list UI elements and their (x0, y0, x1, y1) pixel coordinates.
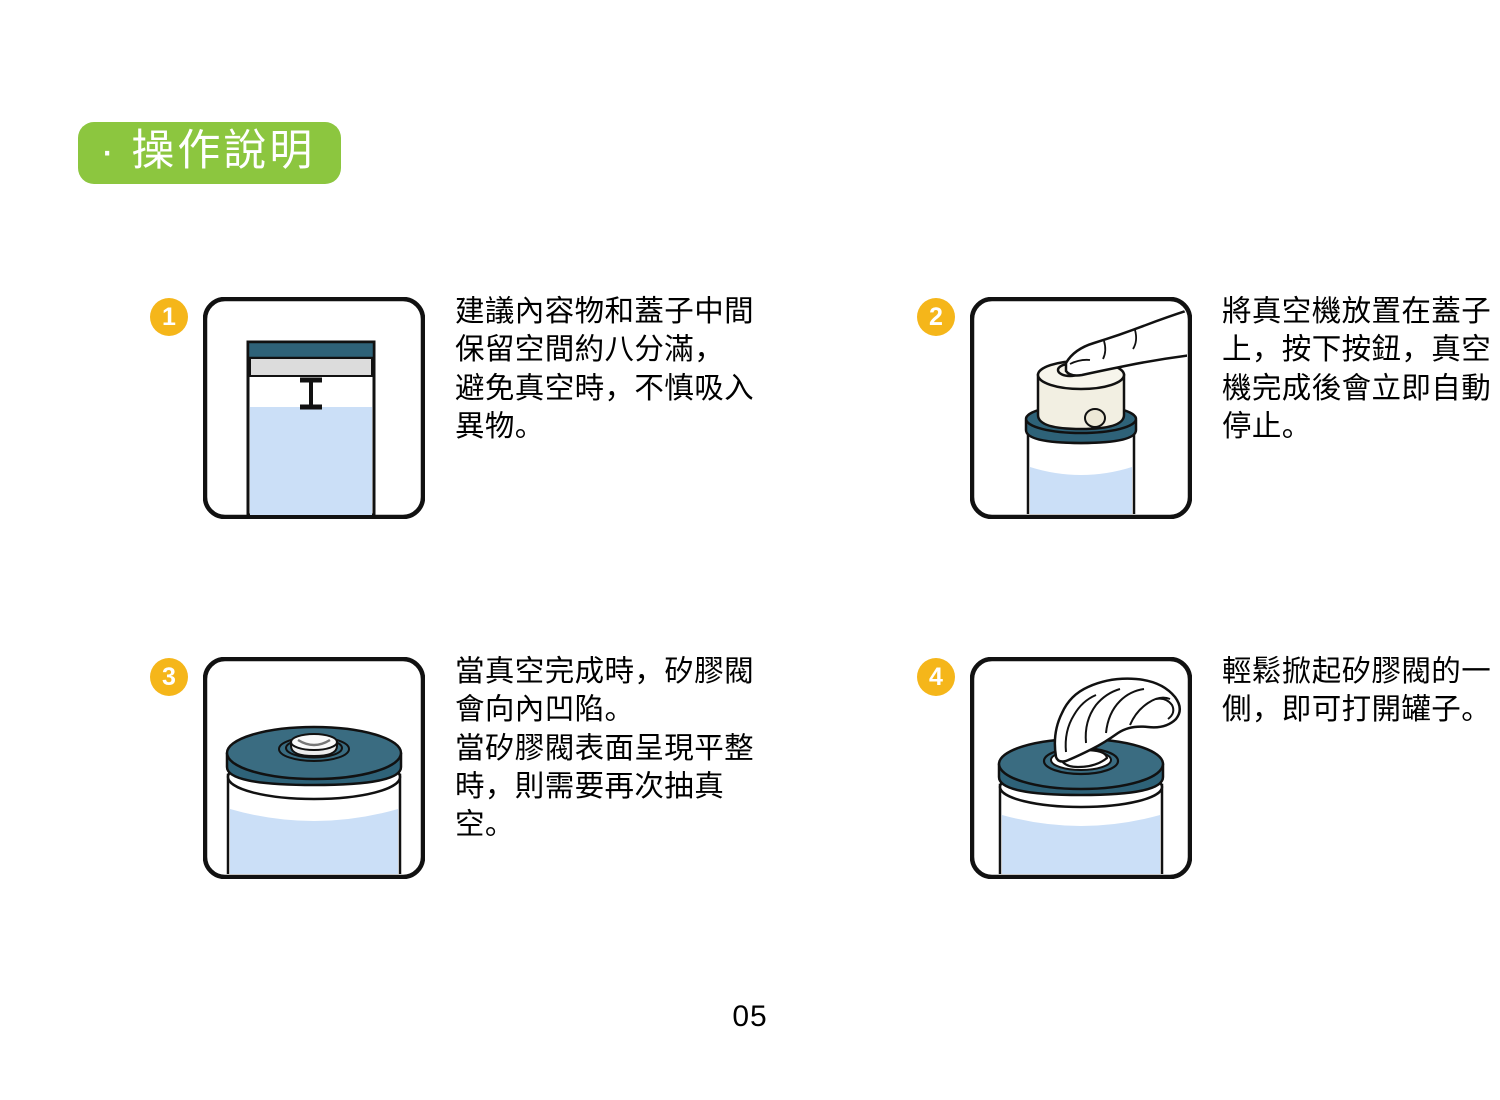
step-caption-line: 空。 (455, 805, 755, 843)
step-2: 2 (917, 270, 1500, 630)
step-caption-line: 異物。 (455, 407, 755, 445)
step-1: 1 (150, 270, 755, 630)
step-caption-line: 避免真空時，不慎吸入 (455, 369, 755, 407)
step-caption-4: 輕鬆掀起矽膠閥的一 側，即可打開罐子。 (1222, 652, 1500, 729)
step-caption-line: 輕鬆掀起矽膠閥的一 (1222, 652, 1500, 690)
step-illustration-2 (970, 297, 1192, 519)
section-title-bullet: · (100, 130, 117, 173)
step-caption-1: 建議內容物和蓋子中間 保留空間約八分滿， 避免真空時，不慎吸入 異物。 (455, 292, 755, 445)
step-illustration-1 (203, 297, 425, 519)
step-caption-line: 當真空完成時，矽膠閥 (455, 652, 755, 690)
step-number-badge-3: 3 (150, 658, 188, 696)
step-caption-line: 建議內容物和蓋子中間 (455, 292, 755, 330)
step-caption-line: 機完成後會立即自動 (1222, 369, 1500, 407)
step-number-badge-4: 4 (917, 658, 955, 696)
step-caption-line: 側，即可打開罐子。 (1222, 690, 1500, 728)
section-title-badge: · 操作說明 (78, 122, 341, 184)
step-4: 4 (917, 630, 1500, 990)
step-caption-line: 停止。 (1222, 407, 1500, 445)
step-caption-line: 保留空間約八分滿， (455, 330, 755, 368)
step-caption-line: 當矽膠閥表面呈現平整 (455, 729, 755, 767)
step-number-badge-1: 1 (150, 298, 188, 336)
page-title: 操作說明 (131, 130, 315, 173)
step-caption-line: 時，則需要再次抽真 (455, 767, 755, 805)
page-number: 05 (0, 1000, 1500, 1034)
step-illustration-3 (203, 657, 425, 879)
step-illustration-4 (970, 657, 1192, 879)
steps-row-top: 1 (0, 270, 1500, 630)
step-caption-3: 當真空完成時，矽膠閥 會向內凹陷。 當矽膠閥表面呈現平整 時，則需要再次抽真 空… (455, 652, 755, 844)
step-caption-line: 將真空機放置在蓋子 (1222, 292, 1500, 330)
step-caption-2: 將真空機放置在蓋子 上，按下按鈕，真空 機完成後會立即自動 停止。 (1222, 292, 1500, 445)
step-3: 3 (150, 630, 755, 990)
step-number-badge-2: 2 (917, 298, 955, 336)
step-caption-line: 會向內凹陷。 (455, 690, 755, 728)
steps-container: 1 (0, 270, 1500, 990)
steps-row-bottom: 3 (0, 630, 1500, 990)
step-caption-line: 上，按下按鈕，真空 (1222, 330, 1500, 368)
